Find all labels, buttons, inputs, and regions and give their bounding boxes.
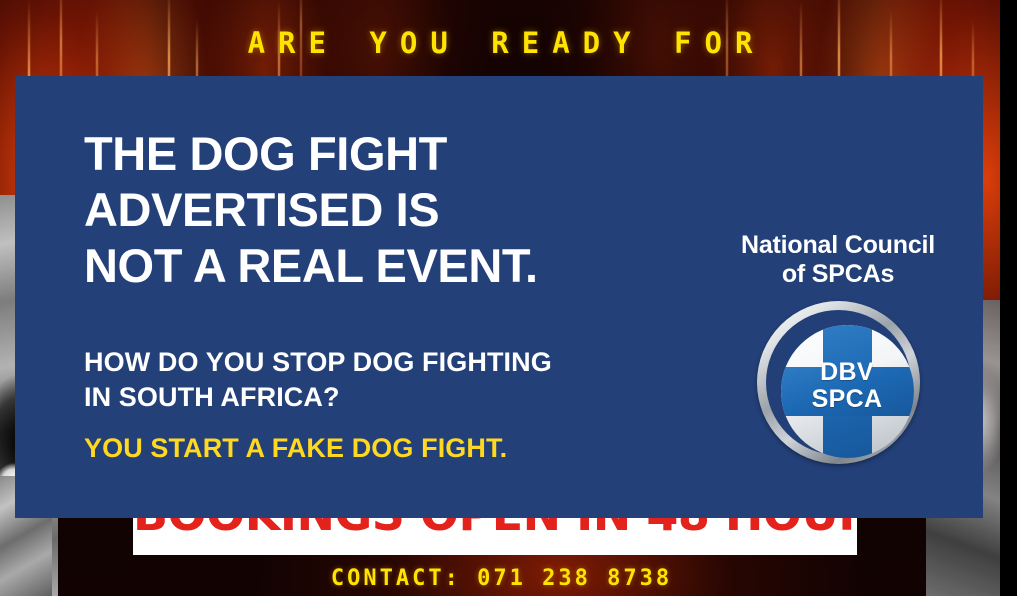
badge-label-text: DBV SPCA bbox=[781, 359, 914, 412]
badge-face: DBV SPCA bbox=[781, 325, 914, 458]
bookings-banner: BOOKINGS OPEN IN 48 HOURS bbox=[133, 518, 857, 555]
contact-text: CONTACT: 071 238 8738 bbox=[0, 568, 1000, 590]
message-overlay-panel: THE DOG FIGHT ADVERTISED IS NOT A REAL E… bbox=[15, 76, 983, 518]
cross-badge-icon: DBV SPCA bbox=[757, 301, 920, 464]
bookings-banner-text: BOOKINGS OPEN IN 48 HOURS bbox=[133, 518, 857, 537]
right-letterbox-bar bbox=[1000, 0, 1017, 596]
campaign-poster: ARE YOU READY FOR BOOKINGS OPEN IN 48 HO… bbox=[0, 0, 1017, 596]
teaser-text: ARE YOU READY FOR bbox=[0, 29, 1000, 58]
nspca-logo: National Council of SPCAs DBV SPCA bbox=[713, 231, 963, 464]
organisation-name: National Council of SPCAs bbox=[713, 231, 963, 289]
badge-inner-ring: DBV SPCA bbox=[766, 310, 911, 455]
punchline-text: YOU START A FAKE DOG FIGHT. bbox=[84, 431, 507, 466]
subheadline-text: HOW DO YOU STOP DOG FIGHTING IN SOUTH AF… bbox=[84, 345, 552, 414]
headline-text: THE DOG FIGHT ADVERTISED IS NOT A REAL E… bbox=[84, 126, 538, 294]
top-teaser-strip: ARE YOU READY FOR bbox=[0, 0, 1000, 76]
